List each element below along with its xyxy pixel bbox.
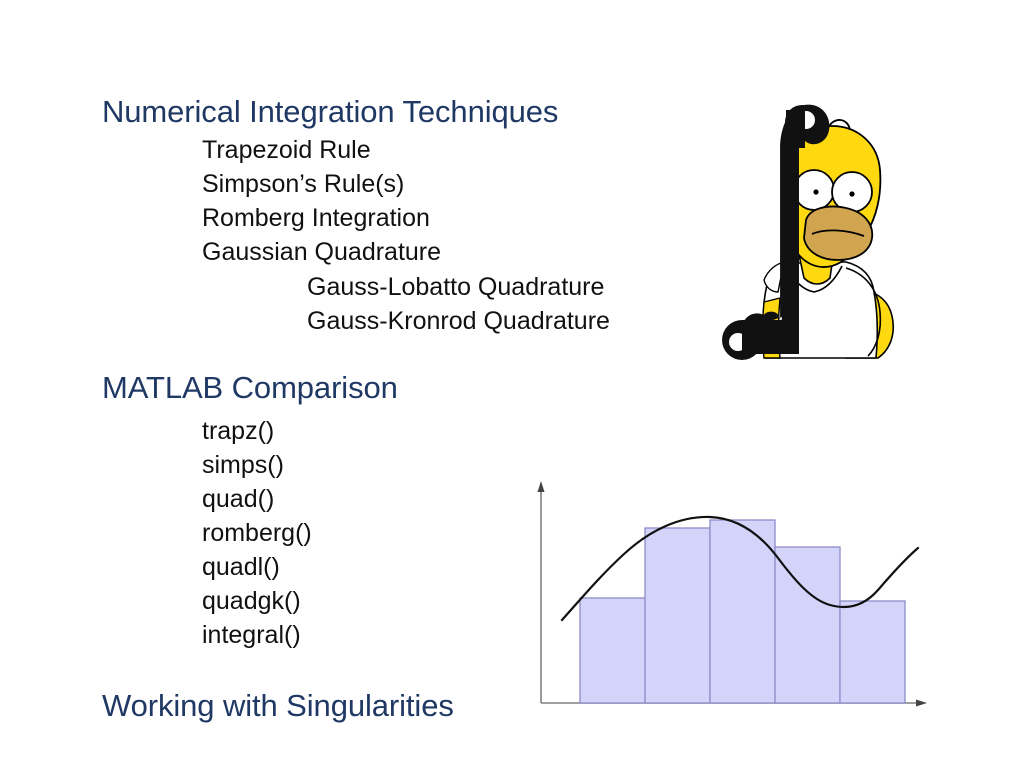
section-heading-numerical-integration: Numerical Integration Techniques [102,96,558,127]
integral-homer-illustration [706,92,906,360]
list-item-integral: integral() [202,623,301,648]
section-heading-working-with-singularities: Working with Singularities [102,690,454,721]
list-item-quadl: quadl() [202,555,280,580]
x-axis-arrowhead [916,700,927,707]
section-heading-matlab-comparison: MATLAB Comparison [102,372,398,403]
riemann-bar-4 [775,547,840,703]
riemann-bar-2 [645,528,710,703]
list-item-trapz: trapz() [202,419,274,444]
list-item-gauss-kronrod-quadrature: Gauss-Kronrod Quadrature [307,309,610,334]
integral-homer-svg [706,92,906,360]
list-item-gauss-lobatto-quadrature: Gauss-Lobatto Quadrature [307,275,604,300]
riemann-bar-1 [580,598,645,703]
riemann-bar-3 [710,520,775,703]
list-item-romberg-integration: Romberg Integration [202,206,430,231]
riemann-bar-5 [840,601,905,703]
list-item-simpsons-rule: Simpson’s Rule(s) [202,172,404,197]
integral-top-join [786,110,805,148]
list-item-romberg: romberg() [202,521,312,546]
riemann-bars [580,520,905,703]
riemann-sum-figure [528,472,938,717]
y-axis-arrowhead [538,481,545,492]
list-item-gaussian-quadrature: Gaussian Quadrature [202,240,441,265]
homer-left-pupil [813,189,818,194]
slide-canvas: Numerical Integration Techniques Trapezo… [0,0,1024,768]
homer-right-pupil [849,191,854,196]
homer-left-eye [794,170,834,210]
list-item-simps: simps() [202,453,284,478]
list-item-quadgk: quadgk() [202,589,301,614]
riemann-sum-svg [528,472,938,717]
list-item-quad: quad() [202,487,274,512]
integral-bottom-join [742,320,799,354]
list-item-trapezoid-rule: Trapezoid Rule [202,138,371,163]
